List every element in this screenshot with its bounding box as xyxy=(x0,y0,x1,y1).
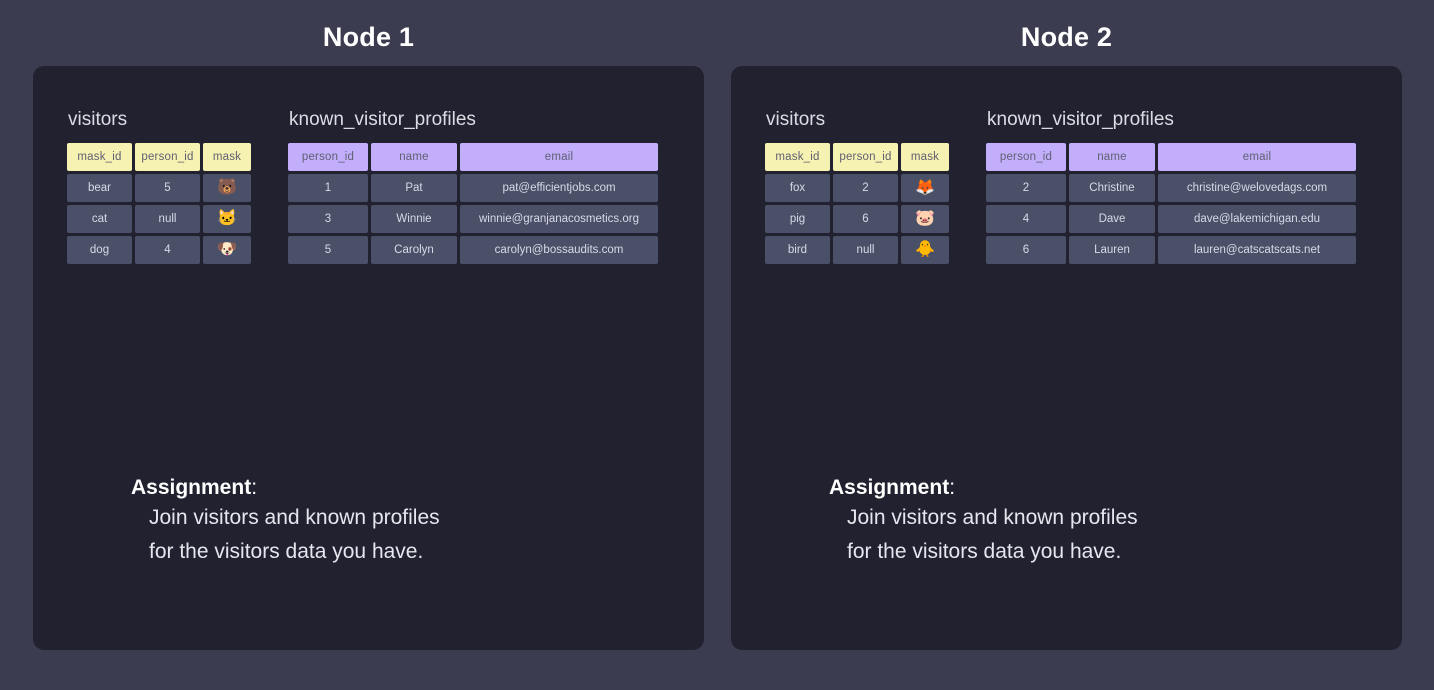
assignment-line-1: Join visitors and known profiles xyxy=(149,501,440,535)
table-header-row: person_id name email xyxy=(288,143,658,171)
assignment-heading-1: Assignment: xyxy=(131,474,440,501)
visitors-table-1: mask_id person_id mask bear 5 🐻 cat xyxy=(64,140,254,267)
cell-name: Carolyn xyxy=(371,236,457,264)
table-row: 2 Christine christine@welovedags.com xyxy=(986,174,1356,202)
cat-icon: 🐱 xyxy=(203,205,251,233)
slide-canvas: Node 1 visitors mask_id person_id mask xyxy=(0,0,1434,690)
table-header-row: mask_id person_id mask xyxy=(67,143,251,171)
assignment-line-2: for the visitors data you have. xyxy=(847,535,1138,569)
column-header-person-id: person_id xyxy=(135,143,200,171)
column-header-name: name xyxy=(1069,143,1155,171)
table-row: pig 6 🐷 xyxy=(765,205,949,233)
profiles-table-1: person_id name email 1 Pat pat@efficient… xyxy=(285,140,661,267)
column-header-person-id: person_id xyxy=(986,143,1066,171)
bear-icon: 🐻 xyxy=(203,174,251,202)
cell-email: dave@lakemichigan.edu xyxy=(1158,205,1356,233)
pig-icon: 🐷 xyxy=(901,205,949,233)
visitors-table-caption-2: visitors xyxy=(766,108,952,131)
visitors-table-2: mask_id person_id mask fox 2 🦊 pig xyxy=(762,140,952,267)
cell-person-id: 3 xyxy=(288,205,368,233)
table-row: 3 Winnie winnie@granjanacosmetics.org xyxy=(288,205,658,233)
visitors-table-block-2: visitors mask_id person_id mask xyxy=(762,108,952,267)
assignment-line-2: for the visitors data you have. xyxy=(149,535,440,569)
cell-person-id: 4 xyxy=(986,205,1066,233)
cell-mask-id: cat xyxy=(67,205,132,233)
node-title-2: Node 2 xyxy=(731,20,1402,54)
table-row: 4 Dave dave@lakemichigan.edu xyxy=(986,205,1356,233)
column-header-person-id: person_id xyxy=(833,143,898,171)
cell-mask-id: bear xyxy=(67,174,132,202)
cell-person-id: 5 xyxy=(288,236,368,264)
column-header-mask-id: mask_id xyxy=(67,143,132,171)
node-title-1: Node 1 xyxy=(33,20,704,54)
visitors-table-caption-1: visitors xyxy=(68,108,254,131)
assignment-heading-2: Assignment: xyxy=(829,474,1138,501)
node-panel-1: Node 1 visitors mask_id person_id mask xyxy=(33,0,704,690)
visitors-table-block-1: visitors mask_id person_id mask xyxy=(64,108,254,267)
dog-icon: 🐶 xyxy=(203,236,251,264)
assignment-line-1: Join visitors and known profiles xyxy=(847,501,1138,535)
table-row: bird null 🐥 xyxy=(765,236,949,264)
column-header-mask: mask xyxy=(203,143,251,171)
cell-name: Pat xyxy=(371,174,457,202)
assignment-block-1: Assignment: Join visitors and known prof… xyxy=(131,474,440,569)
cell-email: winnie@granjanacosmetics.org xyxy=(460,205,658,233)
assignment-label: Assignment xyxy=(829,476,949,499)
table-row: 1 Pat pat@efficientjobs.com xyxy=(288,174,658,202)
profiles-table-2: person_id name email 2 Christine christi… xyxy=(983,140,1359,267)
cell-email: pat@efficientjobs.com xyxy=(460,174,658,202)
profiles-table-caption-2: known_visitor_profiles xyxy=(987,108,1359,131)
cell-email: lauren@catscatscats.net xyxy=(1158,236,1356,264)
assignment-colon: : xyxy=(251,476,257,499)
assignment-text-1: Join visitors and known profiles for the… xyxy=(149,501,440,569)
assignment-block-2: Assignment: Join visitors and known prof… xyxy=(829,474,1138,569)
profiles-table-caption-1: known_visitor_profiles xyxy=(289,108,661,131)
profiles-table-block-1: known_visitor_profiles person_id name em… xyxy=(285,108,661,267)
table-header-row: person_id name email xyxy=(986,143,1356,171)
cell-person-id: null xyxy=(833,236,898,264)
table-row: 6 Lauren lauren@catscatscats.net xyxy=(986,236,1356,264)
table-row: bear 5 🐻 xyxy=(67,174,251,202)
column-header-email: email xyxy=(460,143,658,171)
cell-email: carolyn@bossaudits.com xyxy=(460,236,658,264)
cell-name: Dave xyxy=(1069,205,1155,233)
column-header-name: name xyxy=(371,143,457,171)
table-row: dog 4 🐶 xyxy=(67,236,251,264)
assignment-label: Assignment xyxy=(131,476,251,499)
cell-name: Christine xyxy=(1069,174,1155,202)
cell-person-id: 2 xyxy=(986,174,1066,202)
assignment-text-2: Join visitors and known profiles for the… xyxy=(847,501,1138,569)
node-panel-2: Node 2 visitors mask_id person_id mask xyxy=(731,0,1402,690)
table-row: cat null 🐱 xyxy=(67,205,251,233)
cell-name: Winnie xyxy=(371,205,457,233)
bird-icon: 🐥 xyxy=(901,236,949,264)
cell-person-id: 6 xyxy=(986,236,1066,264)
column-header-mask: mask xyxy=(901,143,949,171)
node-card-2: visitors mask_id person_id mask xyxy=(731,66,1402,650)
profiles-table-block-2: known_visitor_profiles person_id name em… xyxy=(983,108,1359,267)
column-header-email: email xyxy=(1158,143,1356,171)
table-row: fox 2 🦊 xyxy=(765,174,949,202)
fox-icon: 🦊 xyxy=(901,174,949,202)
cell-person-id: null xyxy=(135,205,200,233)
assignment-colon: : xyxy=(949,476,955,499)
cell-person-id: 1 xyxy=(288,174,368,202)
cell-person-id: 5 xyxy=(135,174,200,202)
cell-person-id: 4 xyxy=(135,236,200,264)
cell-email: christine@welovedags.com xyxy=(1158,174,1356,202)
cell-person-id: 2 xyxy=(833,174,898,202)
column-header-person-id: person_id xyxy=(288,143,368,171)
cell-mask-id: fox xyxy=(765,174,830,202)
cell-mask-id: bird xyxy=(765,236,830,264)
table-header-row: mask_id person_id mask xyxy=(765,143,949,171)
cell-mask-id: pig xyxy=(765,205,830,233)
cell-mask-id: dog xyxy=(67,236,132,264)
cell-person-id: 6 xyxy=(833,205,898,233)
table-row: 5 Carolyn carolyn@bossaudits.com xyxy=(288,236,658,264)
column-header-mask-id: mask_id xyxy=(765,143,830,171)
cell-name: Lauren xyxy=(1069,236,1155,264)
node-card-1: visitors mask_id person_id mask xyxy=(33,66,704,650)
